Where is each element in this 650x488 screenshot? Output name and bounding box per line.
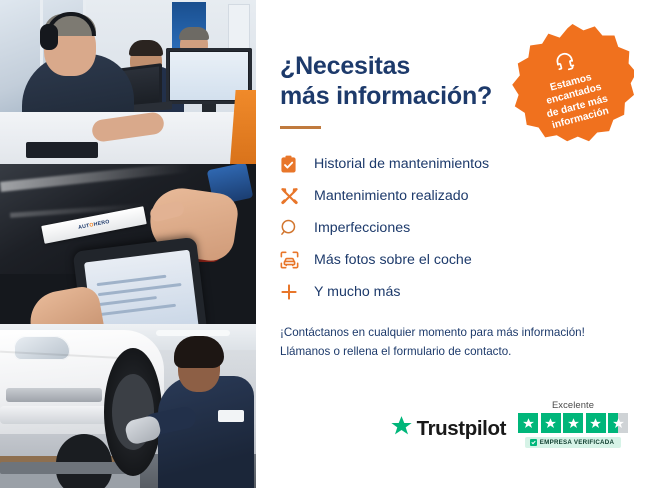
star-2 [541, 413, 561, 433]
status-badge: EMPRESA VERIFICADA [525, 437, 621, 448]
feature-label: Mantenimiento realizado [306, 188, 469, 204]
list-item: Historial de mantenimientos [280, 148, 628, 180]
feature-label: Más fotos sobre el coche [306, 252, 472, 268]
promo-banner: AUTOHERO [0, 0, 650, 488]
list-item: Mantenimiento realizado [280, 180, 628, 212]
verified-label: EMPRESA VERIFICADA [540, 439, 614, 446]
list-item: Y mucho más [280, 276, 628, 308]
headset-icon [552, 49, 580, 79]
star-1 [518, 413, 538, 433]
star-4 [586, 413, 606, 433]
trustpilot-rating[interactable]: Trustpilot Excelente [390, 399, 628, 448]
mechanic-wheel-photo [0, 324, 258, 488]
car-photo-frame-icon [280, 251, 306, 269]
trustpilot-wordmark: Trustpilot [417, 417, 506, 441]
clipboard-check-icon [280, 155, 306, 174]
badge-text: Estamos encantados de darte más informac… [539, 69, 613, 133]
contact-line-1: ¡Contáctanos en cualquier momento para m… [280, 326, 585, 339]
feature-list: Historial de mantenimientos Mantenimient… [280, 148, 628, 308]
autohero-ruler-brand: AUTOHERO [78, 219, 111, 231]
call-center-agents-photo [0, 0, 258, 164]
title-divider [280, 126, 321, 129]
feature-label: Historial de mantenimientos [306, 156, 489, 172]
headline-line-2: más información? [280, 82, 492, 110]
check-square-icon [530, 439, 537, 446]
page-title: ¿Necesitas más información? [280, 52, 510, 111]
car-inspection-ruler-photo: AUTOHERO [0, 164, 258, 324]
trustpilot-star-icon [390, 415, 413, 442]
star-3 [563, 413, 583, 433]
trustpilot-logo[interactable]: Trustpilot [390, 415, 506, 442]
list-item: Más fotos sobre el coche [280, 244, 628, 276]
star-5-half [608, 413, 628, 433]
plus-icon [280, 283, 306, 301]
content-panel: Estamos encantados de darte más informac… [258, 0, 650, 488]
contact-text: ¡Contáctanos en cualquier momento para m… [280, 324, 628, 362]
feature-label: Imperfecciones [306, 220, 410, 236]
info-starburst-badge: Estamos encantados de darte más informac… [511, 24, 634, 147]
trustpilot-stars [518, 413, 628, 433]
magnifier-icon [280, 219, 306, 237]
trustpilot-rating-label: Excelente [552, 399, 594, 410]
tools-cross-icon [280, 187, 306, 206]
list-item: Imperfecciones [280, 212, 628, 244]
contact-line-2: Llámanos o rellena el formulario de cont… [280, 345, 511, 358]
photo-collage: AUTOHERO [0, 0, 258, 488]
headline-line-1: ¿Necesitas [280, 52, 410, 80]
feature-label: Y mucho más [306, 284, 400, 300]
